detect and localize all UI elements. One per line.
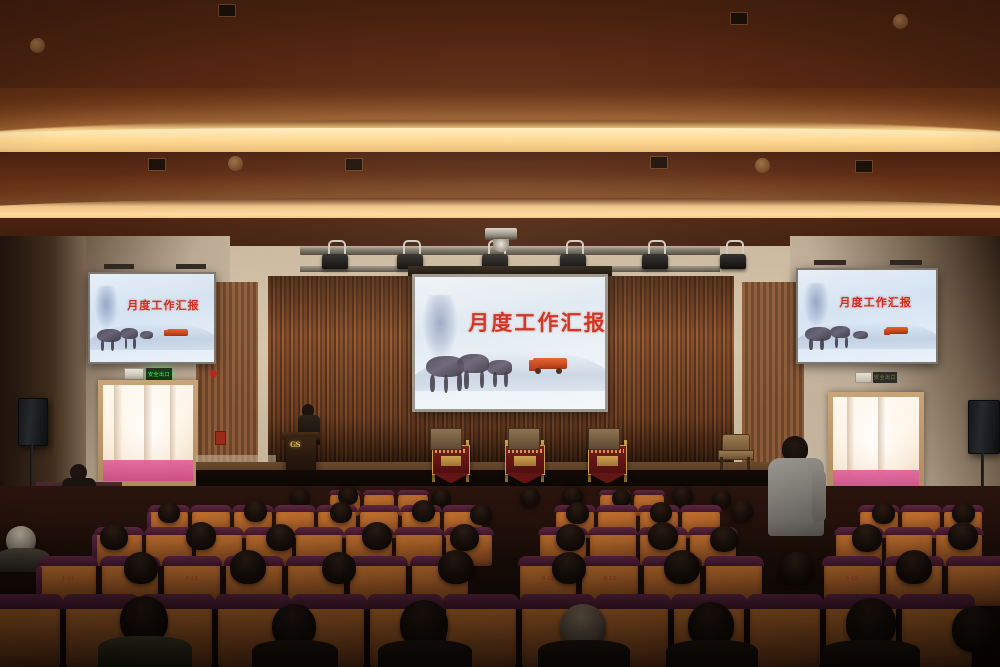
lectern-logo: GS	[290, 440, 312, 448]
slide-content-left: 月度工作汇报	[90, 274, 214, 362]
seat-headrest	[900, 505, 941, 512]
screen-mount-bracket-left	[176, 264, 206, 269]
pa-speaker-right	[968, 400, 1000, 454]
projection-screen-right[interactable]: 月度工作汇报	[796, 268, 938, 364]
seat-headrest	[162, 556, 222, 566]
stage-light-icon	[322, 254, 348, 269]
audience-head	[186, 522, 216, 550]
seat-headrest	[394, 527, 444, 535]
slide-horse	[457, 354, 489, 374]
wall-control-panel-left[interactable]	[124, 368, 144, 380]
corridor-pillar	[878, 397, 885, 474]
slide-horse-leg	[133, 338, 136, 349]
standing-attendee-arm	[812, 470, 826, 522]
audience-shoulders	[822, 640, 920, 667]
ceiling-downlight-icon	[345, 158, 363, 171]
doorway-right-opening	[833, 397, 919, 491]
stage-seat-2	[508, 428, 540, 450]
banner-crest-icon	[597, 456, 618, 467]
seat-number: 7-13	[40, 576, 96, 582]
screen-mount-bracket-right	[814, 260, 846, 265]
audience-head	[852, 524, 882, 552]
seat-headrest	[348, 556, 408, 566]
seat-headrest	[822, 556, 882, 566]
slide-horse	[487, 360, 512, 375]
seat-number: 7-15	[164, 576, 220, 582]
seat-headrest	[588, 527, 638, 535]
seat-headrest	[595, 594, 671, 609]
audience-head	[438, 550, 474, 584]
slide-content-right: 月度工作汇报	[798, 270, 936, 362]
seat-headrest	[680, 505, 721, 512]
slide-horse	[140, 331, 154, 339]
ceiling-downlight-icon	[855, 160, 873, 173]
wall-control-panel-right[interactable]	[855, 372, 872, 383]
audience-head	[362, 522, 392, 550]
slide-title-main: 月度工作汇报	[468, 307, 605, 337]
corridor-pillar	[170, 385, 176, 464]
banner-crest-icon	[514, 456, 535, 467]
ceiling-speaker-icon	[893, 14, 908, 29]
slide-horse-leg	[493, 372, 497, 387]
ceiling-downlight-icon	[218, 4, 236, 17]
seat-headrest	[215, 594, 291, 609]
ceiling-downlight-icon	[650, 156, 668, 169]
screen-mount-bracket-left	[104, 264, 134, 269]
audience-head	[556, 524, 585, 551]
stage-light-icon	[642, 254, 668, 269]
seat-headrest	[633, 490, 665, 495]
audience-head	[566, 502, 589, 524]
auditorium-photo: 月度工作汇报 月度工作汇报	[0, 0, 1000, 667]
audience-head	[322, 552, 356, 584]
ceiling-speaker-icon	[228, 156, 243, 171]
audience-head	[450, 524, 479, 551]
audience-shoulders	[538, 640, 630, 667]
corridor-red-carpet	[103, 460, 193, 481]
seat-headrest	[884, 527, 934, 535]
exit-sign-left: 安全出口	[146, 368, 172, 380]
corridor-pillar	[144, 385, 151, 464]
slide-horse-leg	[504, 372, 508, 387]
seat-headrest	[38, 556, 98, 566]
audience-head	[952, 502, 975, 524]
table-row[interactable]	[0, 600, 60, 667]
seat-headrest	[596, 505, 637, 512]
audience-head	[952, 606, 998, 652]
seat-headrest	[704, 556, 764, 566]
cove-light-core-1	[0, 128, 1000, 150]
seat-headrest	[274, 505, 315, 512]
seat-headrest	[747, 594, 823, 609]
screen-mount-bracket-right	[890, 260, 922, 265]
slide-title-left: 月度工作汇报	[127, 297, 200, 313]
audience-shoulders	[252, 640, 338, 667]
ceiling-speaker-icon	[30, 38, 45, 53]
fire-alarm-indicator-left	[210, 370, 217, 377]
seat-number: 8-15	[824, 576, 880, 582]
slide-ink-tree	[804, 283, 832, 331]
slide-title-right: 月度工作汇报	[839, 294, 912, 310]
seat-headrest	[363, 490, 395, 495]
standing-attendee	[768, 436, 824, 532]
seat-headrest	[899, 594, 975, 609]
slide-ink-tree	[423, 295, 461, 364]
doorway-left[interactable]	[98, 380, 198, 486]
audience-head	[650, 502, 672, 523]
doorway-right[interactable]	[828, 392, 924, 496]
audience-head	[780, 552, 814, 584]
left-wall-shadow	[0, 236, 86, 496]
audience-head	[290, 488, 310, 507]
audience-head	[158, 502, 180, 523]
audience-head	[948, 522, 978, 550]
stage-seat-1	[430, 428, 462, 450]
seat-headrest	[580, 556, 640, 566]
seat-headrest	[397, 490, 429, 495]
seat-headrest	[294, 527, 344, 535]
projection-screen-left[interactable]: 月度工作汇报	[88, 272, 216, 364]
corridor-pillar	[847, 397, 855, 474]
slide-ink-tree	[95, 286, 120, 332]
audience-head	[730, 500, 753, 522]
audience-head	[412, 500, 435, 522]
slide-horse-leg	[480, 371, 484, 388]
audience-head	[896, 550, 932, 584]
audience-head	[664, 550, 700, 584]
audience-head	[672, 486, 693, 506]
audience-head	[552, 552, 586, 584]
audience-head	[266, 524, 295, 551]
slide-horse-leg	[820, 339, 824, 350]
slide-truck-cab	[884, 329, 891, 335]
audience-head	[100, 524, 128, 550]
fire-extinguisher-box-left[interactable]	[215, 431, 226, 445]
corridor-pillar	[114, 385, 122, 464]
slide-horse-leg	[457, 373, 462, 390]
seat-headrest	[358, 505, 399, 512]
audience-head	[710, 526, 738, 552]
stage-chair-leg	[747, 457, 750, 471]
audience-shoulders	[666, 640, 758, 667]
doorway-left-opening	[103, 385, 193, 481]
audience-head	[648, 522, 678, 550]
audience-head	[124, 552, 158, 584]
audience-head	[872, 502, 895, 524]
audience-head	[470, 504, 492, 525]
slide-content-main: 月度工作汇报	[415, 277, 605, 409]
table-row[interactable]	[750, 600, 820, 667]
seat-headrest	[0, 594, 63, 609]
projector-lens-icon	[493, 239, 509, 252]
audience-head	[230, 550, 266, 584]
pa-speaker-stand-left	[30, 444, 33, 488]
slide-horse	[120, 328, 139, 339]
projection-screen-main[interactable]: 月度工作汇报	[412, 274, 608, 412]
slide-horse-leg	[464, 371, 468, 389]
ceiling-downlight-icon	[730, 12, 748, 25]
audience-head	[432, 489, 451, 507]
slide-horse-leg	[809, 339, 813, 350]
audience-head	[244, 500, 267, 522]
slide-horse-leg	[845, 337, 848, 348]
stage-light-icon	[720, 254, 746, 269]
seat-headrest	[443, 594, 519, 609]
slide-horse-leg	[111, 340, 114, 351]
audience-head	[330, 502, 352, 523]
slide-horse-leg	[430, 375, 435, 392]
exit-sign-right: 安全出口	[873, 372, 897, 383]
pa-speaker-left	[18, 398, 48, 446]
slide-truck-cab	[164, 330, 170, 336]
stage-chair-leg	[720, 457, 723, 471]
audience-shoulders	[378, 640, 472, 667]
slide-horse-leg	[444, 375, 449, 393]
ceiling-speaker-icon	[755, 158, 770, 173]
seat-headrest	[946, 556, 1000, 566]
audience-head	[612, 489, 631, 507]
seat-headrest	[190, 505, 231, 512]
banner-crest-icon	[441, 456, 461, 467]
stage-seat-3	[588, 428, 620, 450]
seat-number: 8-13	[582, 576, 638, 582]
audience-shoulders	[98, 636, 192, 667]
ceiling-downlight-icon	[148, 158, 166, 171]
slide-horse	[853, 331, 868, 339]
slide-horse	[830, 326, 851, 338]
audience-head	[520, 488, 540, 507]
